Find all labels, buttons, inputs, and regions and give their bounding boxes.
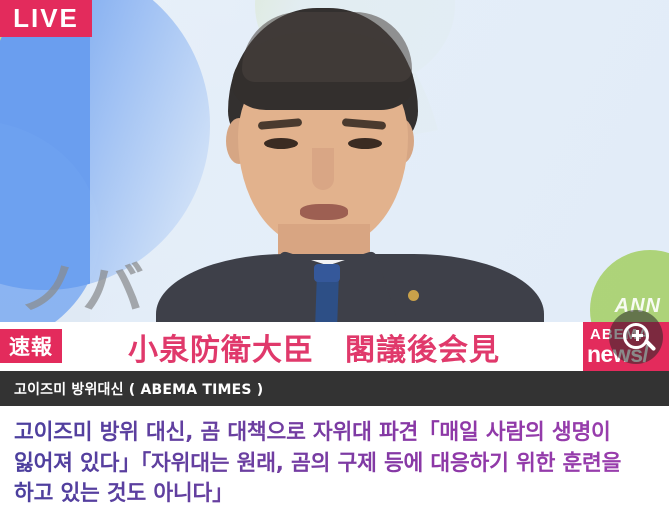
speaker-lapel-pin (408, 290, 419, 301)
speaker-eye-right (348, 138, 382, 149)
article-headline: 고이즈미 방위 대신, 곰 대책으로 자위대 파견「매일 사람의 생명이 잃어져… (14, 418, 659, 510)
magnifier-handle-icon (644, 339, 657, 352)
live-badge: LIVE (0, 0, 92, 37)
caption-bar: 고이즈미 방위대신 ( ABEMA TIMES ) (0, 371, 669, 406)
speaker-figure (150, 8, 550, 322)
speaker-mouth (300, 204, 348, 220)
backdrop-logo-text: ノバ (18, 261, 146, 317)
headline-banner: 速報 小泉防衛大臣 閣議後会見 ABEMA news/ (0, 322, 669, 371)
video-player[interactable]: ノバ ANN LIVE (0, 0, 669, 322)
magnifier-glass-icon (623, 323, 649, 349)
speaker-nose (312, 148, 334, 190)
speaker-eye-left (264, 138, 298, 149)
broadcast-screenshot: ノバ ANN LIVE 速報 小泉防衛大臣 (0, 0, 669, 524)
breaking-news-badge: 速報 (0, 329, 62, 363)
speaker-necktie-knot (314, 264, 340, 282)
speaker-hair-highlight (242, 12, 412, 82)
zoom-in-icon[interactable] (609, 310, 663, 364)
caption-text: 고이즈미 방위대신 ( ABEMA TIMES ) (14, 371, 263, 406)
article-area: 고이즈미 방위 대신, 곰 대책으로 자위대 파견「매일 사람의 생명이 잃어져… (0, 406, 669, 524)
banner-headline: 小泉防衛大臣 閣議後会見 (128, 326, 568, 368)
